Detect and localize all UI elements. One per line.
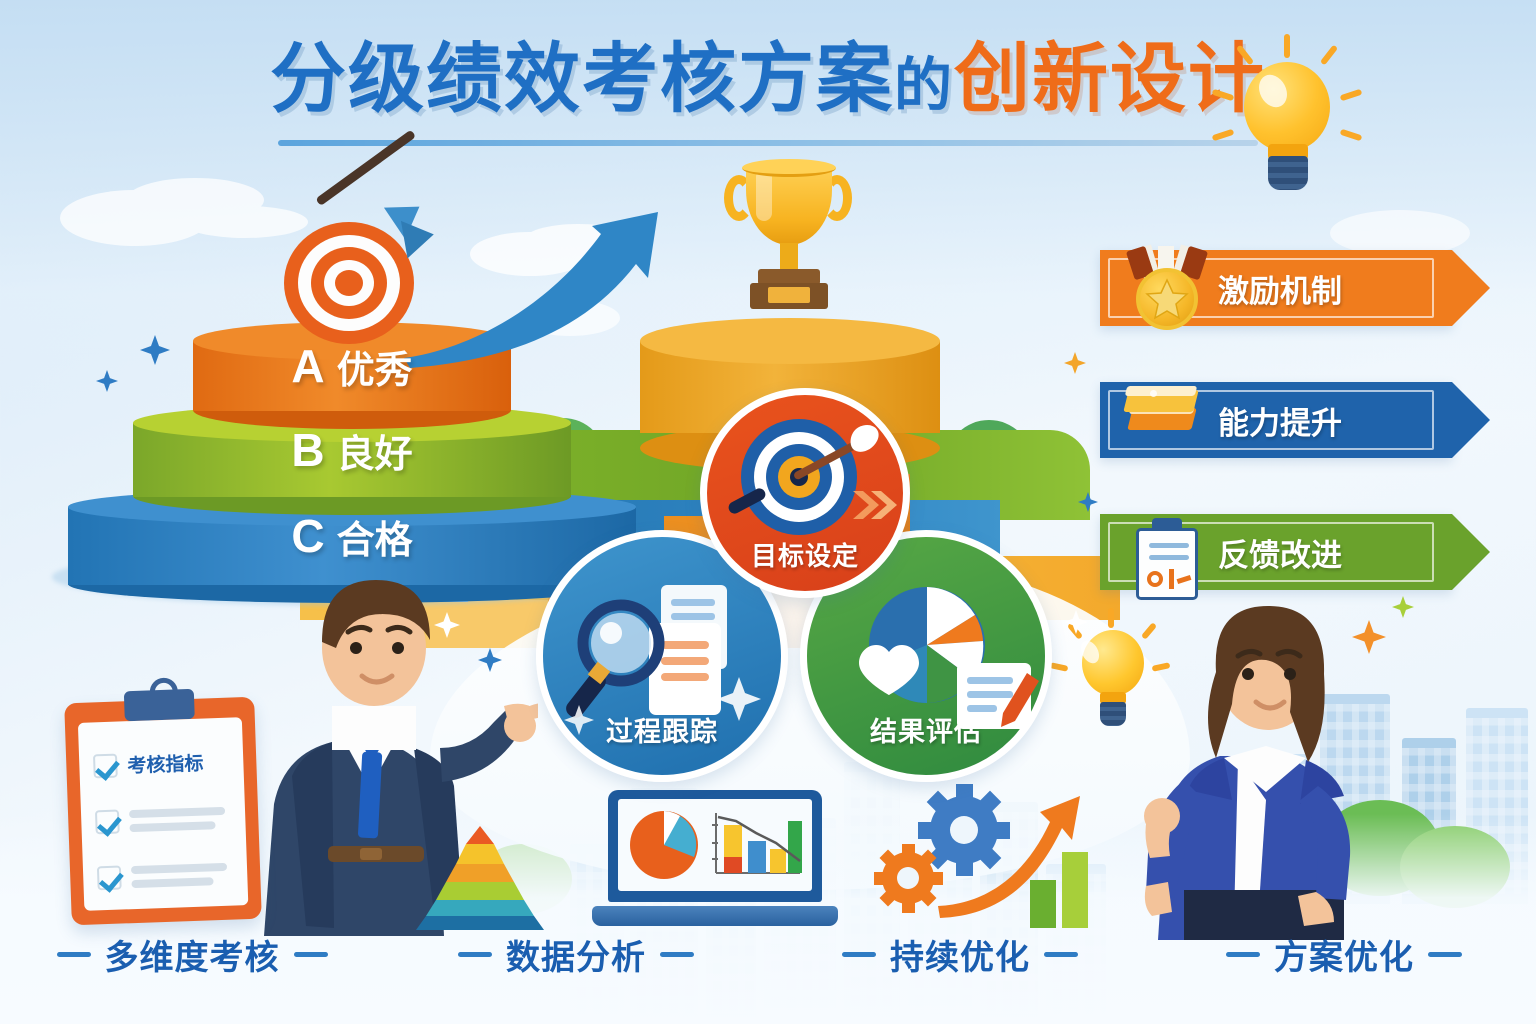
ribbon-2-label: 能力提升 (1218, 398, 1342, 443)
footer-label-3: 持续优化 (890, 930, 1030, 979)
checklist-row[interactable]: 考核指标 (93, 749, 204, 780)
medal-icon (1110, 238, 1214, 338)
tier-c-label: 合格 (337, 509, 413, 564)
dash-left (842, 952, 876, 957)
infographic-canvas: 分级绩效考核方案的创新设计 C 合格 B 良好 A (0, 0, 1536, 1024)
dash-left (1226, 952, 1260, 957)
checkbox-checked[interactable] (95, 810, 120, 835)
layered-pyramid-icon (404, 826, 556, 930)
laptop-chart-icon (592, 790, 838, 926)
trophy-icon (718, 163, 858, 323)
dash-left (57, 952, 91, 957)
star-decor (96, 370, 118, 392)
footer-labels: 多维度考核 数据分析 持续优化 方案优化 (0, 930, 1536, 979)
circle-goal-setting[interactable]: 目标设定 (700, 388, 910, 598)
checklist-clipboard-icon[interactable]: 考核指标 (64, 697, 262, 925)
checkbox-checked[interactable] (97, 866, 122, 891)
lightbulb-icon (1214, 40, 1364, 200)
star-decor (140, 335, 170, 365)
tier-a[interactable]: A 优秀 (193, 322, 511, 410)
dash-right (294, 952, 328, 957)
checklist-row[interactable] (97, 862, 228, 891)
star-decor (1064, 610, 1088, 634)
footer-label-2: 数据分析 (506, 930, 646, 979)
ribbon-incentive[interactable]: 激励机制 (1100, 250, 1452, 326)
clipboard-clip (124, 689, 195, 721)
placeholder-lines (129, 807, 226, 832)
title-main: 分级绩效考核方案 (270, 37, 894, 122)
checklist-item-label: 考核指标 (127, 749, 204, 779)
ribbon-feedback[interactable]: 反馈改进 (1100, 514, 1452, 590)
clipboard-paper: 考核指标 (78, 717, 248, 911)
star-decor (1064, 352, 1086, 374)
gears-growth-icon (872, 782, 1112, 932)
star-decor (1392, 596, 1414, 618)
target-dart-icon (707, 395, 917, 605)
footer-label-1: 多维度考核 (105, 930, 280, 979)
laptop-chart-svg (618, 799, 812, 891)
footer-item-4[interactable]: 方案优化 (1152, 930, 1536, 979)
star-decor (1352, 620, 1386, 654)
tier-b-label: 良好 (337, 423, 413, 478)
placeholder-lines (131, 863, 228, 888)
clipboard-icon (1110, 502, 1214, 602)
title-connector: 的 (894, 53, 954, 118)
cloud-decor (60, 190, 210, 246)
star-decor (478, 648, 502, 672)
dash-right (1428, 952, 1462, 957)
star-decor (434, 612, 460, 638)
checkbox-checked[interactable] (93, 753, 118, 778)
tier-a-grade: A (291, 339, 324, 393)
footer-item-3[interactable]: 持续优化 (768, 930, 1152, 979)
ribbon-3-label: 反馈改进 (1218, 530, 1342, 575)
dash-left (458, 952, 492, 957)
title-underline (278, 140, 1258, 146)
star-decor (1078, 492, 1098, 512)
dash-right (1044, 952, 1078, 957)
footer-item-2[interactable]: 数据分析 (384, 930, 768, 979)
tier-b-grade: B (291, 423, 324, 477)
tier-b[interactable]: B 良好 (133, 404, 571, 496)
checklist-row[interactable] (95, 806, 226, 835)
ribbon-capability[interactable]: 能力提升 (1100, 382, 1452, 458)
dash-right (660, 952, 694, 957)
tier-a-label: 优秀 (337, 339, 413, 394)
books-icon (1110, 370, 1214, 470)
footer-label-4: 方案优化 (1274, 930, 1414, 979)
footer-item-1[interactable]: 多维度考核 (0, 930, 384, 979)
ribbon-1-label: 激励机制 (1218, 266, 1342, 311)
tier-c-grade: C (291, 509, 324, 563)
